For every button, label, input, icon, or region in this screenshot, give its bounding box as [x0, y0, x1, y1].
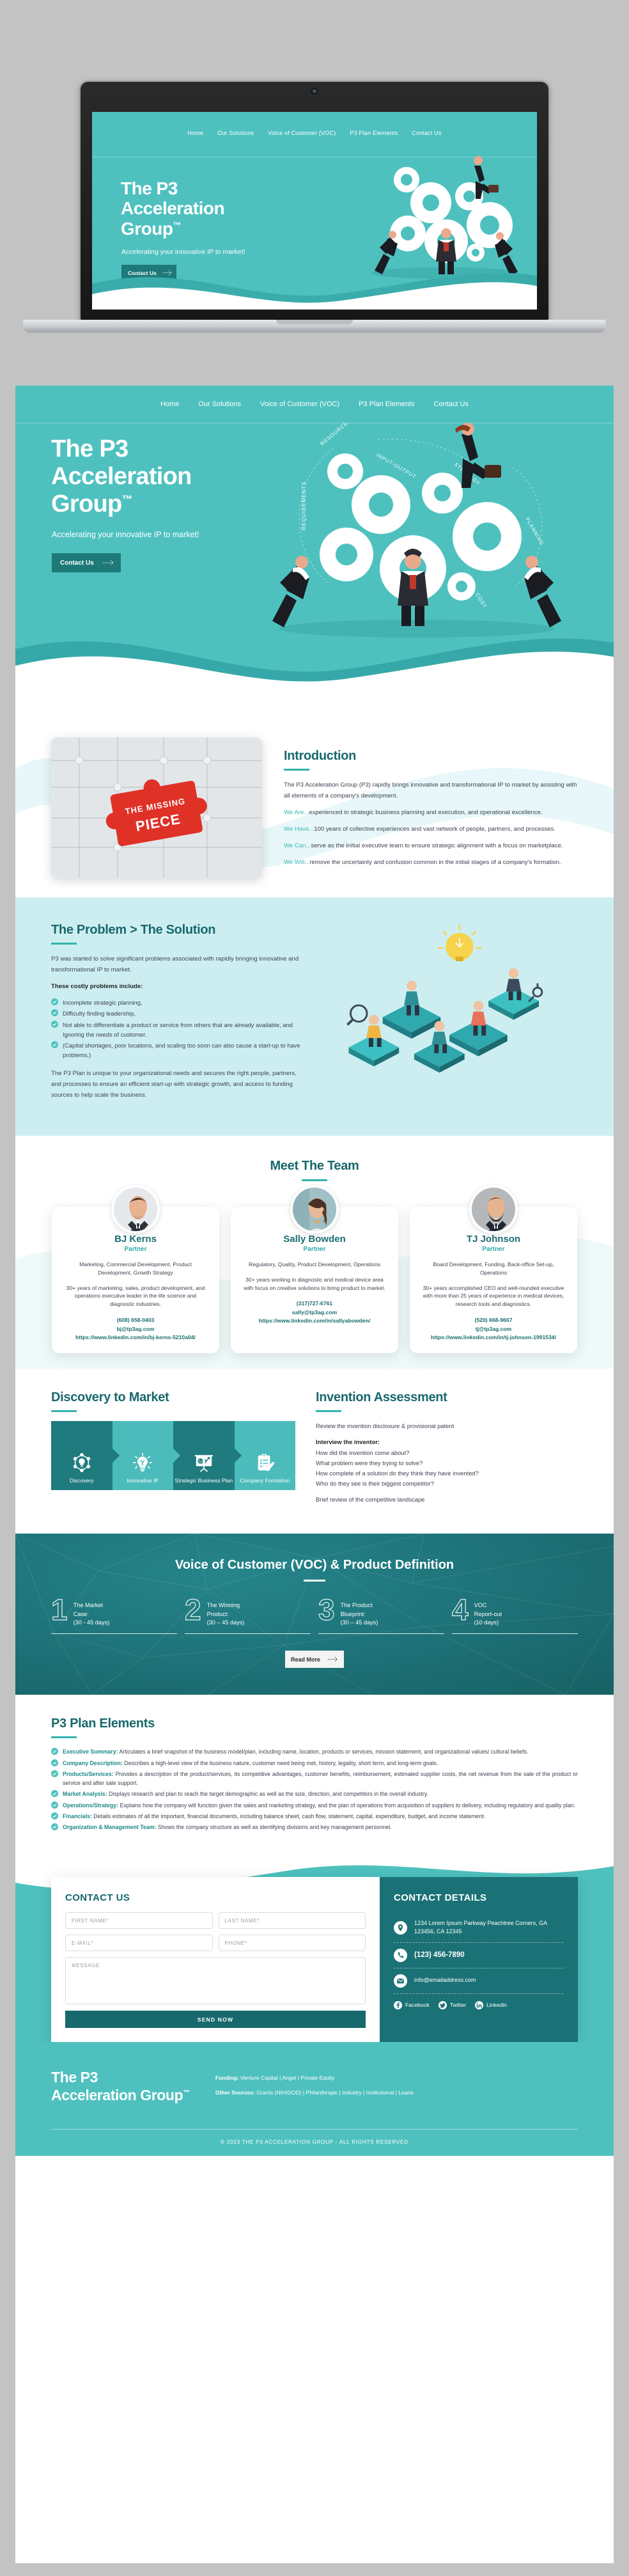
list-item: (Capital shortages, poor locations, and …	[51, 1041, 307, 1060]
social-link-facebook[interactable]: Facebook	[394, 2001, 430, 2009]
team-cards: BJ Kerns Partner Marketing, Commercial D…	[15, 1181, 614, 1353]
hero-subtitle: Accelerating your innovative IP to marke…	[52, 530, 199, 539]
portrait-tj-johnson	[472, 1188, 518, 1234]
team-heading: Meet The Team	[15, 1159, 614, 1174]
hero-cta-label: Contact Us	[60, 560, 94, 567]
member-specialty: Regulatory, Quality, Product Development…	[242, 1261, 387, 1269]
problem-paragraph-2: The P3 Plan is unique to your organizati…	[51, 1068, 307, 1101]
invention-question: How complete of a solution do they think…	[316, 1468, 578, 1479]
member-bio: 30+ years accomplished CEO and well-roun…	[421, 1284, 566, 1309]
member-contact: (608) 658-0403 bj@tp3ag.com https://www.…	[63, 1316, 208, 1342]
invention-question: What problem were they trying to solve?	[316, 1458, 578, 1468]
section-rule	[284, 769, 309, 771]
message-textarea[interactable]: MESSAGE	[65, 1957, 366, 2004]
contact-phone-row[interactable]: (123) 456-7890	[394, 1943, 564, 1968]
voc-step-3: 3 The Product Blueprint: (30 – 45 days)	[318, 1598, 444, 1634]
mockup-nav[interactable]: Home Our Solutions Voice of Customer (VO…	[92, 112, 537, 136]
intro-paragraph-2: We Are...experienced in strategic busine…	[284, 807, 578, 818]
nav-item-home[interactable]: Home	[160, 400, 179, 408]
laptop-mockup: Home Our Solutions Voice of Customer (VO…	[0, 0, 629, 384]
member-bio: 30+ years working in diagnostic and medi…	[242, 1276, 387, 1292]
intro-lead-we-are: We Are...	[284, 809, 309, 816]
footer-other-sources: Other Sources: Grants (NIH/DOD) | Philan…	[215, 2089, 414, 2098]
introduction-heading: Introduction	[284, 749, 578, 764]
avatar	[469, 1185, 518, 1234]
clipboard-check-icon	[255, 1453, 274, 1472]
contact-email-row[interactable]: info@emailaddress.com	[394, 1968, 564, 1993]
svg-text:RESOURCES: RESOURCES	[320, 423, 353, 447]
voc-step-text: The Winning Product: (30 – 45 days)	[207, 1598, 245, 1627]
check-circle-icon	[51, 1009, 58, 1016]
check-circle-icon	[51, 1802, 58, 1809]
email-input[interactable]: E-MAIL*	[65, 1935, 213, 1951]
introduction-body: The P3 Acceleration Group (P3) rapidly b…	[284, 780, 578, 868]
problem-list-title: These costly problems include:	[51, 981, 307, 992]
member-contact: (520) 668-9667 tj@tp3ag.com https://www.…	[421, 1316, 566, 1342]
footer-logo: The P3 Acceleration Group™	[51, 2069, 190, 2104]
copyright-text: © 2023 THE P3 ACCELERATION GROUP - ALL R…	[51, 2130, 578, 2156]
nav-item-voice-of-customer[interactable]: Voice of Customer (VOC)	[260, 400, 339, 408]
isometric-teamwork-illustration	[326, 923, 578, 1083]
contact-section: CONTACT US FIRST NAME* LAST NAME* E-MAIL…	[15, 1855, 614, 2042]
voc-step-text: The Market Case: (30 - 45 days)	[74, 1598, 110, 1627]
footer-funding: Funding: Venture Capital | Angel | Priva…	[215, 2074, 414, 2083]
list-item: Financials: Details estimates of all the…	[51, 1812, 578, 1821]
nav-item-contact-us[interactable]: Contact Us	[434, 400, 469, 408]
voc-step-text: The Product Blueprint: (30 – 45 days)	[341, 1598, 378, 1627]
facebook-icon	[394, 2001, 402, 2009]
svg-text:COST: COST	[474, 592, 488, 609]
member-email[interactable]: bj@tp3ag.com	[63, 1325, 208, 1333]
invention-paragraph-1: Review the invention disclosure & provis…	[316, 1421, 578, 1431]
contact-phone: (123) 456-7890	[414, 1950, 465, 1961]
footer-funding-sources: Funding: Venture Capital | Angel | Priva…	[215, 2069, 414, 2103]
member-phone[interactable]: (608) 658-0403	[63, 1316, 208, 1324]
intro-lead-we-will: We Will...	[284, 859, 309, 866]
intro-paragraph-3: We Have...100 years of collective experi…	[284, 824, 578, 835]
list-item: Products/Services: Provides a descriptio…	[51, 1770, 578, 1788]
mockup-hero-title: The P3 Acceleration Group™	[121, 178, 224, 239]
list-item: Market Analysis: Displays research and p…	[51, 1789, 578, 1798]
mockup-hero-subtitle: Accelerating your innovative IP to marke…	[121, 248, 245, 256]
list-item: Not able to differentiate a product or s…	[51, 1020, 307, 1039]
intro-paragraph-1: The P3 Acceleration Group (P3) rapidly b…	[284, 780, 578, 801]
intro-paragraph-5: We Will...remove the uncertainty and con…	[284, 857, 578, 868]
member-specialty: Board Development, Funding, Back-office …	[421, 1261, 566, 1277]
voc-step-number: 2	[185, 1598, 201, 1622]
envelope-icon	[394, 1974, 407, 1988]
check-circle-icon	[51, 1823, 58, 1830]
site-footer: The P3 Acceleration Group™ Funding: Vent…	[15, 2042, 614, 2155]
hero-title: The P3 Acceleration Group™	[51, 436, 192, 518]
social-links: Facebook Twitter Linkedin	[394, 1994, 564, 2009]
check-circle-icon	[51, 998, 58, 1005]
hero-wave-decoration	[92, 258, 537, 310]
step-discovery[interactable]: Discovery	[51, 1421, 113, 1490]
section-rule	[316, 1410, 341, 1412]
member-linkedin[interactable]: https://www.linkedin.com/in/sallyabowden…	[242, 1317, 387, 1325]
list-item: Company Description: Describes a high-le…	[51, 1759, 578, 1768]
member-email[interactable]: sally@tp3ag.com	[242, 1308, 387, 1317]
plan-elements-section: P3 Plan Elements Executive Summary: Arti…	[15, 1695, 614, 1855]
send-now-button[interactable]: SEND NOW	[65, 2011, 366, 2028]
contact-address: 1234 Lorem Ipsum Parkway Peachtree Corne…	[414, 1919, 564, 1936]
laptop-screen: Home Our Solutions Voice of Customer (VO…	[92, 112, 537, 310]
missing-piece-image: THE MISSING PIECE	[51, 737, 262, 878]
puzzle-illustration: THE MISSING PIECE	[51, 737, 262, 878]
plan-heading: P3 Plan Elements	[51, 1716, 578, 1731]
presentation-chart-icon	[194, 1453, 214, 1472]
step-strategic-business-plan[interactable]: Strategic Business Plan	[173, 1421, 235, 1490]
contact-form: CONTACT US FIRST NAME* LAST NAME* E-MAIL…	[51, 1877, 380, 2042]
svg-text:REQUIREMENTS: REQUIREMENTS	[301, 482, 307, 530]
lightbulb-icon	[133, 1453, 152, 1472]
twitter-icon	[439, 2001, 447, 2009]
laptop-base	[23, 320, 606, 333]
social-link-twitter[interactable]: Twitter	[439, 2001, 466, 2009]
avatar	[111, 1185, 160, 1234]
intro-lead-we-can: We Can...	[284, 842, 311, 849]
mockup-nav-our-solutions[interactable]: Our Solutions	[217, 130, 254, 136]
member-linkedin[interactable]: https://www.linkedin.com/in/bj-kerns-521…	[63, 1333, 208, 1342]
member-specialty: Marketing, Commercial Development, Produ…	[63, 1261, 208, 1277]
mockup-nav-contact-us[interactable]: Contact Us	[412, 130, 442, 136]
invention-question: How did the invention come about?	[316, 1448, 578, 1458]
problem-list: Incomplete strategic planning, Difficult…	[51, 998, 307, 1060]
team-member-card: BJ Kerns Partner Marketing, Commercial D…	[52, 1207, 219, 1353]
voc-step-number: 4	[452, 1598, 469, 1622]
solution-illustration	[326, 923, 578, 1106]
invention-paragraph-2: Brief review of the competitive landscap…	[316, 1495, 578, 1505]
linkedin-icon	[475, 2001, 483, 2009]
invention-subheading: Interview the inventor:	[316, 1437, 578, 1447]
step-innovative-ip[interactable]: Innovative IP	[113, 1421, 174, 1490]
voc-section: Voice of Customer (VOC) & Product Defini…	[15, 1534, 614, 1695]
phone-icon	[394, 1949, 407, 1962]
member-role: Partner	[421, 1246, 566, 1253]
hero-wave-decoration	[15, 620, 614, 693]
team-section: Meet The Team BJ Kerns	[15, 1136, 614, 1369]
section-rule	[51, 943, 77, 945]
arrow-right-icon	[103, 560, 114, 566]
chevron-right-icon	[173, 1449, 180, 1463]
voc-step-1: 1 The Market Case: (30 - 45 days)	[51, 1598, 177, 1634]
team-member-card: Sally Bowden Partner Regulatory, Quality…	[231, 1207, 398, 1353]
portrait-sally-bowden	[293, 1188, 339, 1234]
phone-input[interactable]: PHONE*	[219, 1935, 366, 1951]
member-phone[interactable]: (520) 668-9667	[421, 1316, 566, 1324]
problem-solution-section: The Problem > The Solution P3 was starte…	[15, 897, 614, 1136]
avatar	[290, 1185, 339, 1234]
member-contact: (317)727-6761 sally@tp3ag.com https://ww…	[242, 1300, 387, 1325]
gears-illustration: RESOURCES INPUT-OUTPUT STRATEGY PLANNING…	[251, 423, 583, 640]
step-company-formation[interactable]: Company Formation	[235, 1421, 296, 1490]
member-name: Sally Bowden	[242, 1234, 387, 1245]
plan-elements-list: Executive Summary: Articulates a brief s…	[51, 1747, 578, 1832]
invention-assessment: Invention Assessment Review the inventio…	[316, 1390, 578, 1511]
member-role: Partner	[242, 1246, 387, 1253]
discovery-to-market: Discovery to Market Discovery	[51, 1390, 295, 1511]
member-name: BJ Kerns	[63, 1234, 208, 1245]
nav-item-p3-plan-elements[interactable]: P3 Plan Elements	[359, 400, 414, 408]
problem-paragraph-1: P3 was started to solve significant prob…	[51, 954, 307, 975]
social-link-linkedin[interactable]: Linkedin	[475, 2001, 507, 2009]
hero-section: Home Our Solutions Voice of Customer (VO…	[15, 386, 614, 693]
member-linkedin[interactable]: https://www.linkedin.com/in/tj-johnson-1…	[421, 1333, 566, 1342]
intro-paragraph-4: We Can...serve as the initial executive …	[284, 840, 578, 851]
introduction-section: THE MISSING PIECE Introduction The P3 Ac…	[15, 693, 614, 878]
member-bio: 30+ years of marketing, sales, product d…	[63, 1284, 208, 1309]
chevron-right-icon	[113, 1449, 120, 1463]
check-circle-icon	[51, 1041, 58, 1048]
invention-heading: Invention Assessment	[316, 1390, 578, 1405]
list-item: Difficulty finding leadership,	[51, 1009, 307, 1018]
contact-details-title: CONTACT DETAILS	[394, 1892, 564, 1903]
check-circle-icon	[51, 1790, 58, 1797]
intro-lead-we-have: We Have...	[284, 826, 314, 833]
contact-address-row: 1234 Lorem Ipsum Parkway Peachtree Corne…	[394, 1913, 564, 1942]
problem-heading: The Problem > The Solution	[51, 923, 307, 938]
voc-step-text: VOC Report-out (10 days)	[474, 1598, 502, 1627]
hero-contact-us-button[interactable]: Contact Us	[52, 553, 121, 572]
list-item: Operations/Strategy: Explains how the co…	[51, 1801, 578, 1810]
section-rule	[51, 1410, 77, 1412]
contact-details: CONTACT DETAILS 1234 Lorem Ipsum Parkway…	[380, 1877, 578, 2042]
contact-form-title: CONTACT US	[65, 1892, 366, 1903]
laptop-lid: Home Our Solutions Voice of Customer (VO…	[79, 81, 550, 321]
laptop-notch	[276, 320, 353, 324]
check-circle-icon	[51, 1748, 58, 1755]
member-email[interactable]: tj@tp3ag.com	[421, 1325, 566, 1333]
check-circle-icon	[51, 1021, 58, 1028]
mockup-hero: Home Our Solutions Voice of Customer (VO…	[92, 112, 537, 310]
nav-item-our-solutions[interactable]: Our Solutions	[198, 400, 241, 408]
section-rule	[51, 1736, 77, 1738]
mockup-nav-p3-plan-elements[interactable]: P3 Plan Elements	[350, 130, 398, 136]
list-item: Executive Summary: Articulates a brief s…	[51, 1747, 578, 1756]
voc-step-2: 2 The Winning Product: (30 – 45 days)	[185, 1598, 311, 1634]
website-page-capture: Home Our Solutions Voice of Customer (VO…	[15, 386, 614, 2563]
invention-question: Who do they see is their biggest competi…	[316, 1479, 578, 1489]
main-navigation[interactable]: Home Our Solutions Voice of Customer (VO…	[15, 386, 614, 408]
check-circle-icon	[51, 1812, 58, 1819]
discovery-steps: Discovery Innovative IP	[51, 1421, 295, 1490]
check-circle-icon	[51, 1759, 58, 1766]
discovery-invention-section: Discovery to Market Discovery	[15, 1369, 614, 1534]
member-name: TJ Johnson	[421, 1234, 566, 1245]
portrait-bj-kerns	[114, 1188, 160, 1234]
voc-step-number: 3	[318, 1598, 335, 1622]
list-item: Incomplete strategic planning,	[51, 998, 307, 1007]
voc-step-4: 4 VOC Report-out (10 days)	[452, 1598, 578, 1634]
team-member-card: TJ Johnson Partner Board Development, Fu…	[410, 1207, 577, 1353]
network-node-icon	[72, 1453, 91, 1472]
mockup-nav-voc[interactable]: Voice of Customer (VOC)	[268, 130, 336, 136]
member-role: Partner	[63, 1246, 208, 1253]
contact-email: info@emailaddress.com	[414, 1976, 476, 1984]
first-name-input[interactable]: FIRST NAME*	[65, 1912, 213, 1929]
voc-step-number: 1	[51, 1598, 68, 1622]
location-pin-icon	[394, 1921, 407, 1935]
last-name-input[interactable]: LAST NAME*	[219, 1912, 366, 1929]
check-circle-icon	[51, 1770, 58, 1777]
list-item: Organization & Management Team: Shows th…	[51, 1823, 578, 1832]
chevron-right-icon	[235, 1449, 242, 1463]
webcam-icon	[313, 89, 317, 93]
member-phone[interactable]: (317)727-6761	[242, 1300, 387, 1308]
mockup-nav-home[interactable]: Home	[187, 130, 203, 136]
discovery-heading: Discovery to Market	[51, 1390, 295, 1405]
